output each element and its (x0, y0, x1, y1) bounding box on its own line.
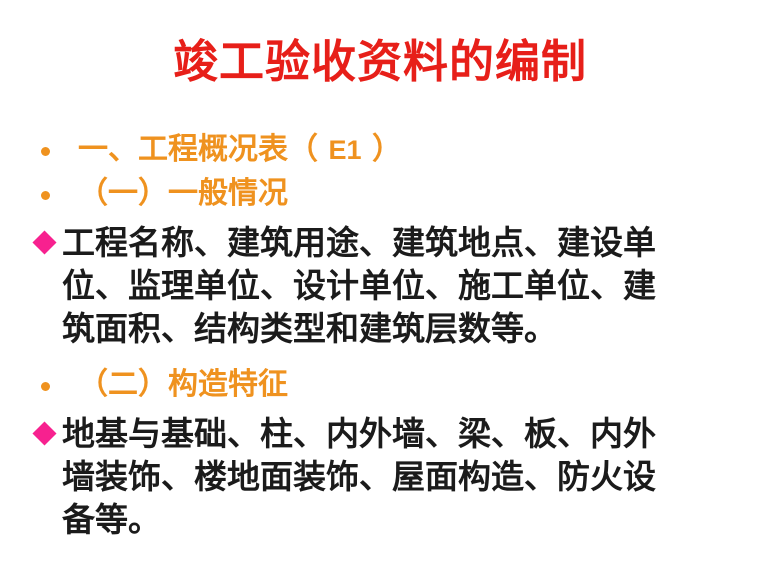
paragraph-2-line: 备等。 (63, 498, 760, 541)
round-dot-bullet-icon (41, 191, 50, 200)
presentation-slide: 竣工验收资料的编制 一、工程概况表（ E1 ） （一）一般情况 工程名称、建筑用… (0, 0, 760, 568)
paragraph-2-line: 墙装饰、楼地面装饰、屋面构造、防火设 (63, 455, 760, 498)
subsection-2-label: （二）构造特征 (78, 367, 288, 402)
section-1-label-suffix: ） (372, 132, 402, 167)
paragraph-2-text: 地基与基础、柱、内外墙、梁、板、内外 墙装饰、楼地面装饰、屋面构造、防火设 备等… (63, 412, 760, 541)
paragraph-1-line: 工程名称、建筑用途、建筑地点、建设单 (63, 221, 760, 264)
round-dot-bullet-icon (41, 147, 50, 156)
section-1-form-code: E1 (328, 135, 361, 165)
spacer (0, 350, 760, 363)
bullet-item-subsection-1[interactable]: （一）一般情况 (0, 172, 760, 215)
section-1-label-prefix: 一、工程概况表（ (78, 132, 318, 167)
paragraph-1-line: 筑面积、结构类型和建筑层数等。 (63, 307, 760, 350)
round-dot-bullet-icon (41, 382, 50, 391)
paragraph-1-line: 位、监理单位、设计单位、施工单位、建 (63, 264, 760, 307)
bullet-item-section-1[interactable]: 一、工程概况表（ E1 ） (0, 128, 760, 172)
diamond-bullet-icon (32, 421, 56, 445)
slide-body: 一、工程概况表（ E1 ） （一）一般情况 工程名称、建筑用途、建筑地点、建设单… (0, 128, 760, 541)
paragraph-1-text: 工程名称、建筑用途、建筑地点、建设单 位、监理单位、设计单位、施工单位、建 筑面… (63, 221, 760, 350)
bullet-item-subsection-2[interactable]: （二）构造特征 (0, 363, 760, 406)
diamond-paragraph-1[interactable]: 工程名称、建筑用途、建筑地点、建设单 位、监理单位、设计单位、施工单位、建 筑面… (0, 221, 760, 350)
diamond-paragraph-2[interactable]: 地基与基础、柱、内外墙、梁、板、内外 墙装饰、楼地面装饰、屋面构造、防火设 备等… (0, 412, 760, 541)
subsection-1-label: （一）一般情况 (78, 176, 288, 211)
paragraph-2-line: 地基与基础、柱、内外墙、梁、板、内外 (63, 412, 760, 455)
diamond-bullet-icon (32, 230, 56, 254)
page-title: 竣工验收资料的编制 (0, 34, 760, 90)
